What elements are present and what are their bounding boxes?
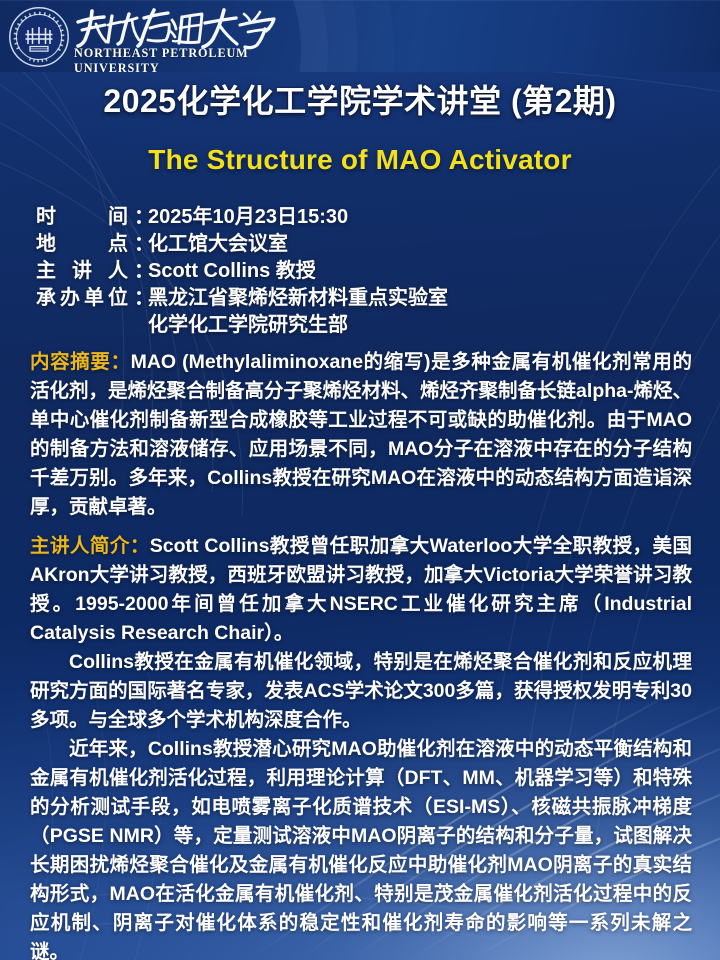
info-row-time: 时间： 2025年10月23日15:30 [36, 204, 684, 231]
info-value-organizer: 黑龙江省聚烯烃新材料重点实验室 [148, 285, 684, 312]
lecture-subtitle: The Structure of MAO Activator [0, 144, 720, 176]
info-label-speaker: 主讲人： [36, 258, 148, 285]
info-value-location: 化工馆大会议室 [148, 231, 684, 258]
info-value-speaker: Scott Collins 教授 [148, 258, 684, 285]
info-row-speaker: 主讲人： Scott Collins 教授 [36, 258, 684, 285]
bio-heading: 主讲人简介： [30, 535, 150, 557]
page-title: 2025化学化工学院学术讲堂 (第2期) [0, 76, 720, 122]
lecture-info-block: 时间： 2025年10月23日15:30 地点： 化工馆大会议室 主讲人： Sc… [36, 204, 684, 339]
university-logotype [74, 6, 280, 64]
abstract-heading: 内容摘要： [30, 351, 131, 373]
abstract-paragraph: 内容摘要：MAO (Methylaliminoxane的缩写)是多种金属有机催化… [30, 348, 692, 522]
bio-paragraph-3: 近年来，Collins教授潜心研究MAO助催化剂在溶液中的动态平衡结构和金属有机… [30, 735, 692, 960]
header-band: NORTHEAST PETROLEUM UNIVERSITY [0, 0, 720, 72]
abstract-section: 内容摘要：MAO (Methylaliminoxane的缩写)是多种金属有机催化… [30, 348, 692, 522]
info-label-time: 时间： [36, 204, 148, 231]
info-label-location: 地点： [36, 231, 148, 258]
info-value-time: 2025年10月23日15:30 [148, 204, 684, 231]
info-label-organizer: 承办单位： [36, 285, 148, 312]
bio-paragraph-1: 主讲人简介：Scott Collins教授曾任职加拿大Waterloo大学全职教… [30, 532, 692, 648]
university-seal-icon [8, 6, 70, 68]
info-row-location: 地点： 化工馆大会议室 [36, 231, 684, 258]
info-value-organizer-line2: 化学化工学院研究生部 [148, 312, 684, 339]
bio-section: 主讲人简介：Scott Collins教授曾任职加拿大Waterloo大学全职教… [30, 532, 692, 960]
lecture-poster: NORTHEAST PETROLEUM UNIVERSITY 2025化学化工学… [0, 0, 720, 960]
university-name-en: NORTHEAST PETROLEUM UNIVERSITY [74, 46, 284, 72]
bio-paragraph-2: Collins教授在金属有机催化领域，特别是在烯烃聚合催化剂和反应机理研究方面的… [30, 648, 692, 735]
info-row-organizer: 承办单位： 黑龙江省聚烯烃新材料重点实验室 [36, 285, 684, 312]
abstract-body: MAO (Methylaliminoxane的缩写)是多种金属有机催化剂常用的活… [30, 351, 692, 518]
